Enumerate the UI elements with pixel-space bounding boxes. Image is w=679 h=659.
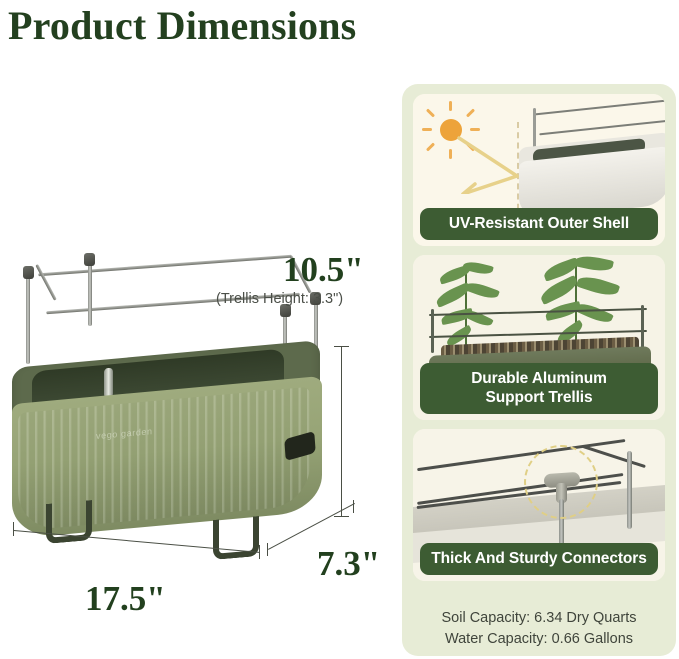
leaf: [538, 275, 580, 305]
shell-trellis-rail-back: [535, 99, 665, 116]
feature-label-line-1: Durable Aluminum: [424, 370, 654, 388]
trellis-height-note: (Trellis Height: 3.3"): [216, 291, 343, 307]
highlight-circle: [524, 445, 598, 519]
sun-ray-e: [470, 128, 480, 131]
feature-card-uv-shell[interactable]: UV-Resistant Outer Shell: [413, 94, 665, 246]
width-measure-cap-left: [13, 522, 14, 536]
depth-measure-cap-right: [353, 500, 354, 513]
feature-label-aluminum-trellis: Durable Aluminum Support Trellis: [420, 363, 658, 414]
height-dimension-label: 10.5": [283, 250, 364, 290]
planter-leg-right: [213, 516, 259, 560]
sun-ray-sw: [426, 142, 435, 151]
trellis-post-left-front: [26, 272, 30, 364]
width-measure-cap-right: [259, 545, 260, 559]
feature-label-connectors: Thick And Sturdy Connectors: [420, 543, 658, 575]
height-measure-line: [341, 347, 342, 517]
depth-dimension-label: 7.3": [317, 544, 380, 584]
page-title: Product Dimensions: [8, 2, 356, 49]
sun-ray-n: [449, 101, 452, 111]
feature-card-connectors[interactable]: Thick And Sturdy Connectors: [413, 429, 665, 581]
sun-ray-nw: [426, 108, 435, 117]
connector-post-right: [627, 451, 632, 529]
leaf: [574, 255, 614, 274]
trellis-rail-left-side: [35, 264, 56, 301]
leaf: [576, 273, 620, 299]
water-fill-spout: [104, 368, 113, 399]
sun-ray-ne: [466, 108, 475, 117]
shell-trellis-rail-front: [539, 119, 665, 136]
leaf: [464, 280, 500, 302]
shell-trellis-post-left: [533, 108, 536, 148]
capacity-info: Soil Capacity: 6.34 Dry Quarts Water Cap…: [402, 608, 676, 650]
trellis-post-right: [641, 305, 644, 351]
sun-ray-w: [422, 128, 432, 131]
product-dimensions-infographic: Product Dimensions: [0, 0, 679, 659]
height-measure-cap-bottom: [334, 516, 349, 517]
feature-card-aluminum-trellis[interactable]: Durable Aluminum Support Trellis: [413, 255, 665, 420]
height-measure-cap-top: [334, 346, 349, 347]
water-capacity-text: Water Capacity: 0.66 Gallons: [402, 629, 676, 650]
trellis-connector-left-front: [23, 266, 34, 279]
trellis-post-left: [431, 309, 434, 353]
width-dimension-label: 17.5": [85, 579, 166, 619]
product-dimension-diagram: vego garden 10.5" (Trellis Height: 3.3")…: [0, 60, 400, 659]
feature-label-line-2: Support Trellis: [424, 389, 654, 407]
soil-capacity-text: Soil Capacity: 6.34 Dry Quarts: [402, 608, 676, 629]
white-planter-image: [513, 100, 665, 215]
trellis-rail-top-back: [38, 255, 292, 277]
feature-label-uv-shell: UV-Resistant Outer Shell: [420, 208, 658, 240]
depth-measure-cap-left: [267, 543, 268, 556]
feature-panel: UV-Resistant Outer Shell: [402, 84, 676, 656]
sun-ray-s: [449, 149, 452, 159]
trellis-connector-left-back: [84, 253, 95, 266]
trellis-post-left-back: [88, 258, 92, 326]
